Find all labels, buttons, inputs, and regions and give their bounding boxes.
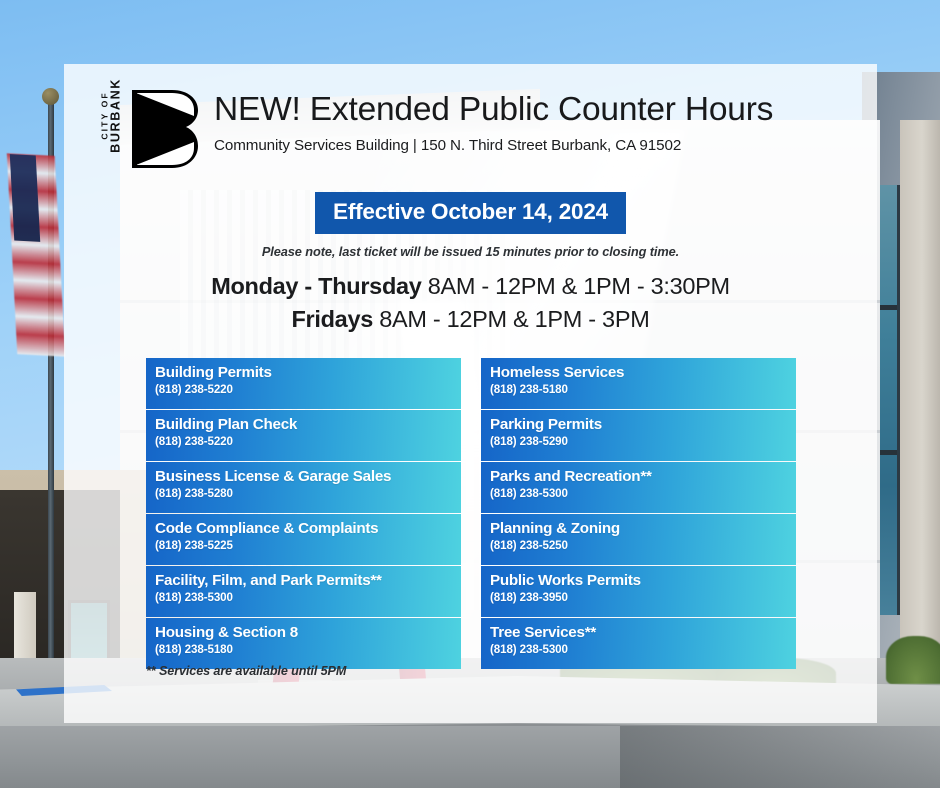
service-bar[interactable]: Building Permits (818) 238-5220 <box>146 358 461 409</box>
service-name: Homeless Services <box>490 363 796 382</box>
service-bar[interactable]: Facility, Film, and Park Permits** (818)… <box>146 566 461 617</box>
hours-times-weekday: 8AM - 12PM & 1PM - 3:30PM <box>422 273 730 299</box>
service-name: Building Plan Check <box>155 415 461 434</box>
service-phone[interactable]: (818) 238-5220 <box>155 383 461 396</box>
hours-days-weekday: Monday - Thursday <box>211 273 421 299</box>
service-name: Facility, Film, and Park Permits** <box>155 571 461 590</box>
service-phone[interactable]: (818) 238-5220 <box>155 435 461 448</box>
service-phone[interactable]: (818) 238-5300 <box>490 487 796 500</box>
service-phone[interactable]: (818) 238-5280 <box>155 487 461 500</box>
service-bar[interactable]: Planning & Zoning (818) 238-5250 <box>481 514 796 565</box>
logo-burbank-text: BURBANK <box>110 73 124 157</box>
service-name: Business License & Garage Sales <box>155 467 461 486</box>
service-phone[interactable]: (818) 238-5225 <box>155 539 461 552</box>
service-name: Public Works Permits <box>490 571 796 590</box>
asterisk-footnote: ** Services are available until 5PM <box>146 664 346 678</box>
background-flag-union <box>10 154 40 242</box>
last-ticket-note: Please note, last ticket will be issued … <box>64 244 877 259</box>
service-bar[interactable]: Parking Permits (818) 238-5290 <box>481 410 796 461</box>
hours-line-friday: Fridays 8AM - 12PM & 1PM - 3PM <box>64 303 877 336</box>
background-flagpole-finial <box>42 88 59 105</box>
effective-date-row: Effective October 14, 2024 <box>64 192 877 234</box>
background-building-column <box>900 120 940 680</box>
poster-canvas: CITY OF BURBANK NEW! Extended Public Cou… <box>0 0 940 788</box>
header-titles: NEW! Extended Public Counter Hours Commu… <box>214 86 773 154</box>
service-bar[interactable]: Housing & Section 8 (818) 238-5180 <box>146 618 461 669</box>
city-of-burbank-logo: CITY OF BURBANK <box>86 86 202 170</box>
service-phone[interactable]: (818) 238-5250 <box>490 539 796 552</box>
service-phone[interactable]: (818) 238-5300 <box>490 643 796 656</box>
page-subtitle: Community Services Building | 150 N. Thi… <box>214 137 773 154</box>
page-title: NEW! Extended Public Counter Hours <box>214 92 773 127</box>
service-phone[interactable]: (818) 238-3950 <box>490 591 796 604</box>
content-panel: CITY OF BURBANK NEW! Extended Public Cou… <box>64 64 877 723</box>
service-bar[interactable]: Business License & Garage Sales (818) 23… <box>146 462 461 513</box>
service-bar[interactable]: Code Compliance & Complaints (818) 238-5… <box>146 514 461 565</box>
service-bar[interactable]: Public Works Permits (818) 238-3950 <box>481 566 796 617</box>
service-bar[interactable]: Homeless Services (818) 238-5180 <box>481 358 796 409</box>
service-name: Building Permits <box>155 363 461 382</box>
hours-times-friday: 8AM - 12PM & 1PM - 3PM <box>373 306 649 332</box>
service-name: Planning & Zoning <box>490 519 796 538</box>
service-name: Parking Permits <box>490 415 796 434</box>
poster-header: CITY OF BURBANK NEW! Extended Public Cou… <box>86 86 773 170</box>
effective-date-badge: Effective October 14, 2024 <box>315 192 626 234</box>
hours-days-friday: Fridays <box>292 306 374 332</box>
background-street-shadow <box>620 726 940 788</box>
service-name: Parks and Recreation** <box>490 467 796 486</box>
background-hedge <box>886 636 940 684</box>
service-bar[interactable]: Tree Services** (818) 238-5300 <box>481 618 796 669</box>
service-phone[interactable]: (818) 238-5180 <box>490 383 796 396</box>
service-phone[interactable]: (818) 238-5300 <box>155 591 461 604</box>
service-bar[interactable]: Parks and Recreation** (818) 238-5300 <box>481 462 796 513</box>
service-bar[interactable]: Building Plan Check (818) 238-5220 <box>146 410 461 461</box>
services-column-right: Homeless Services (818) 238-5180 Parking… <box>481 358 796 670</box>
service-phone[interactable]: (818) 238-5290 <box>490 435 796 448</box>
hours-line-weekday: Monday - Thursday 8AM - 12PM & 1PM - 3:3… <box>64 270 877 303</box>
service-name: Tree Services** <box>490 623 796 642</box>
logo-wordmark: CITY OF BURBANK <box>101 73 124 157</box>
service-name: Housing & Section 8 <box>155 623 461 642</box>
services-column-left: Building Permits (818) 238-5220 Building… <box>146 358 461 670</box>
service-phone[interactable]: (818) 238-5180 <box>155 643 461 656</box>
services-grid: Building Permits (818) 238-5220 Building… <box>146 358 796 670</box>
service-name: Code Compliance & Complaints <box>155 519 461 538</box>
burbank-b-icon <box>132 90 198 168</box>
hours-block: Monday - Thursday 8AM - 12PM & 1PM - 3:3… <box>64 270 877 337</box>
